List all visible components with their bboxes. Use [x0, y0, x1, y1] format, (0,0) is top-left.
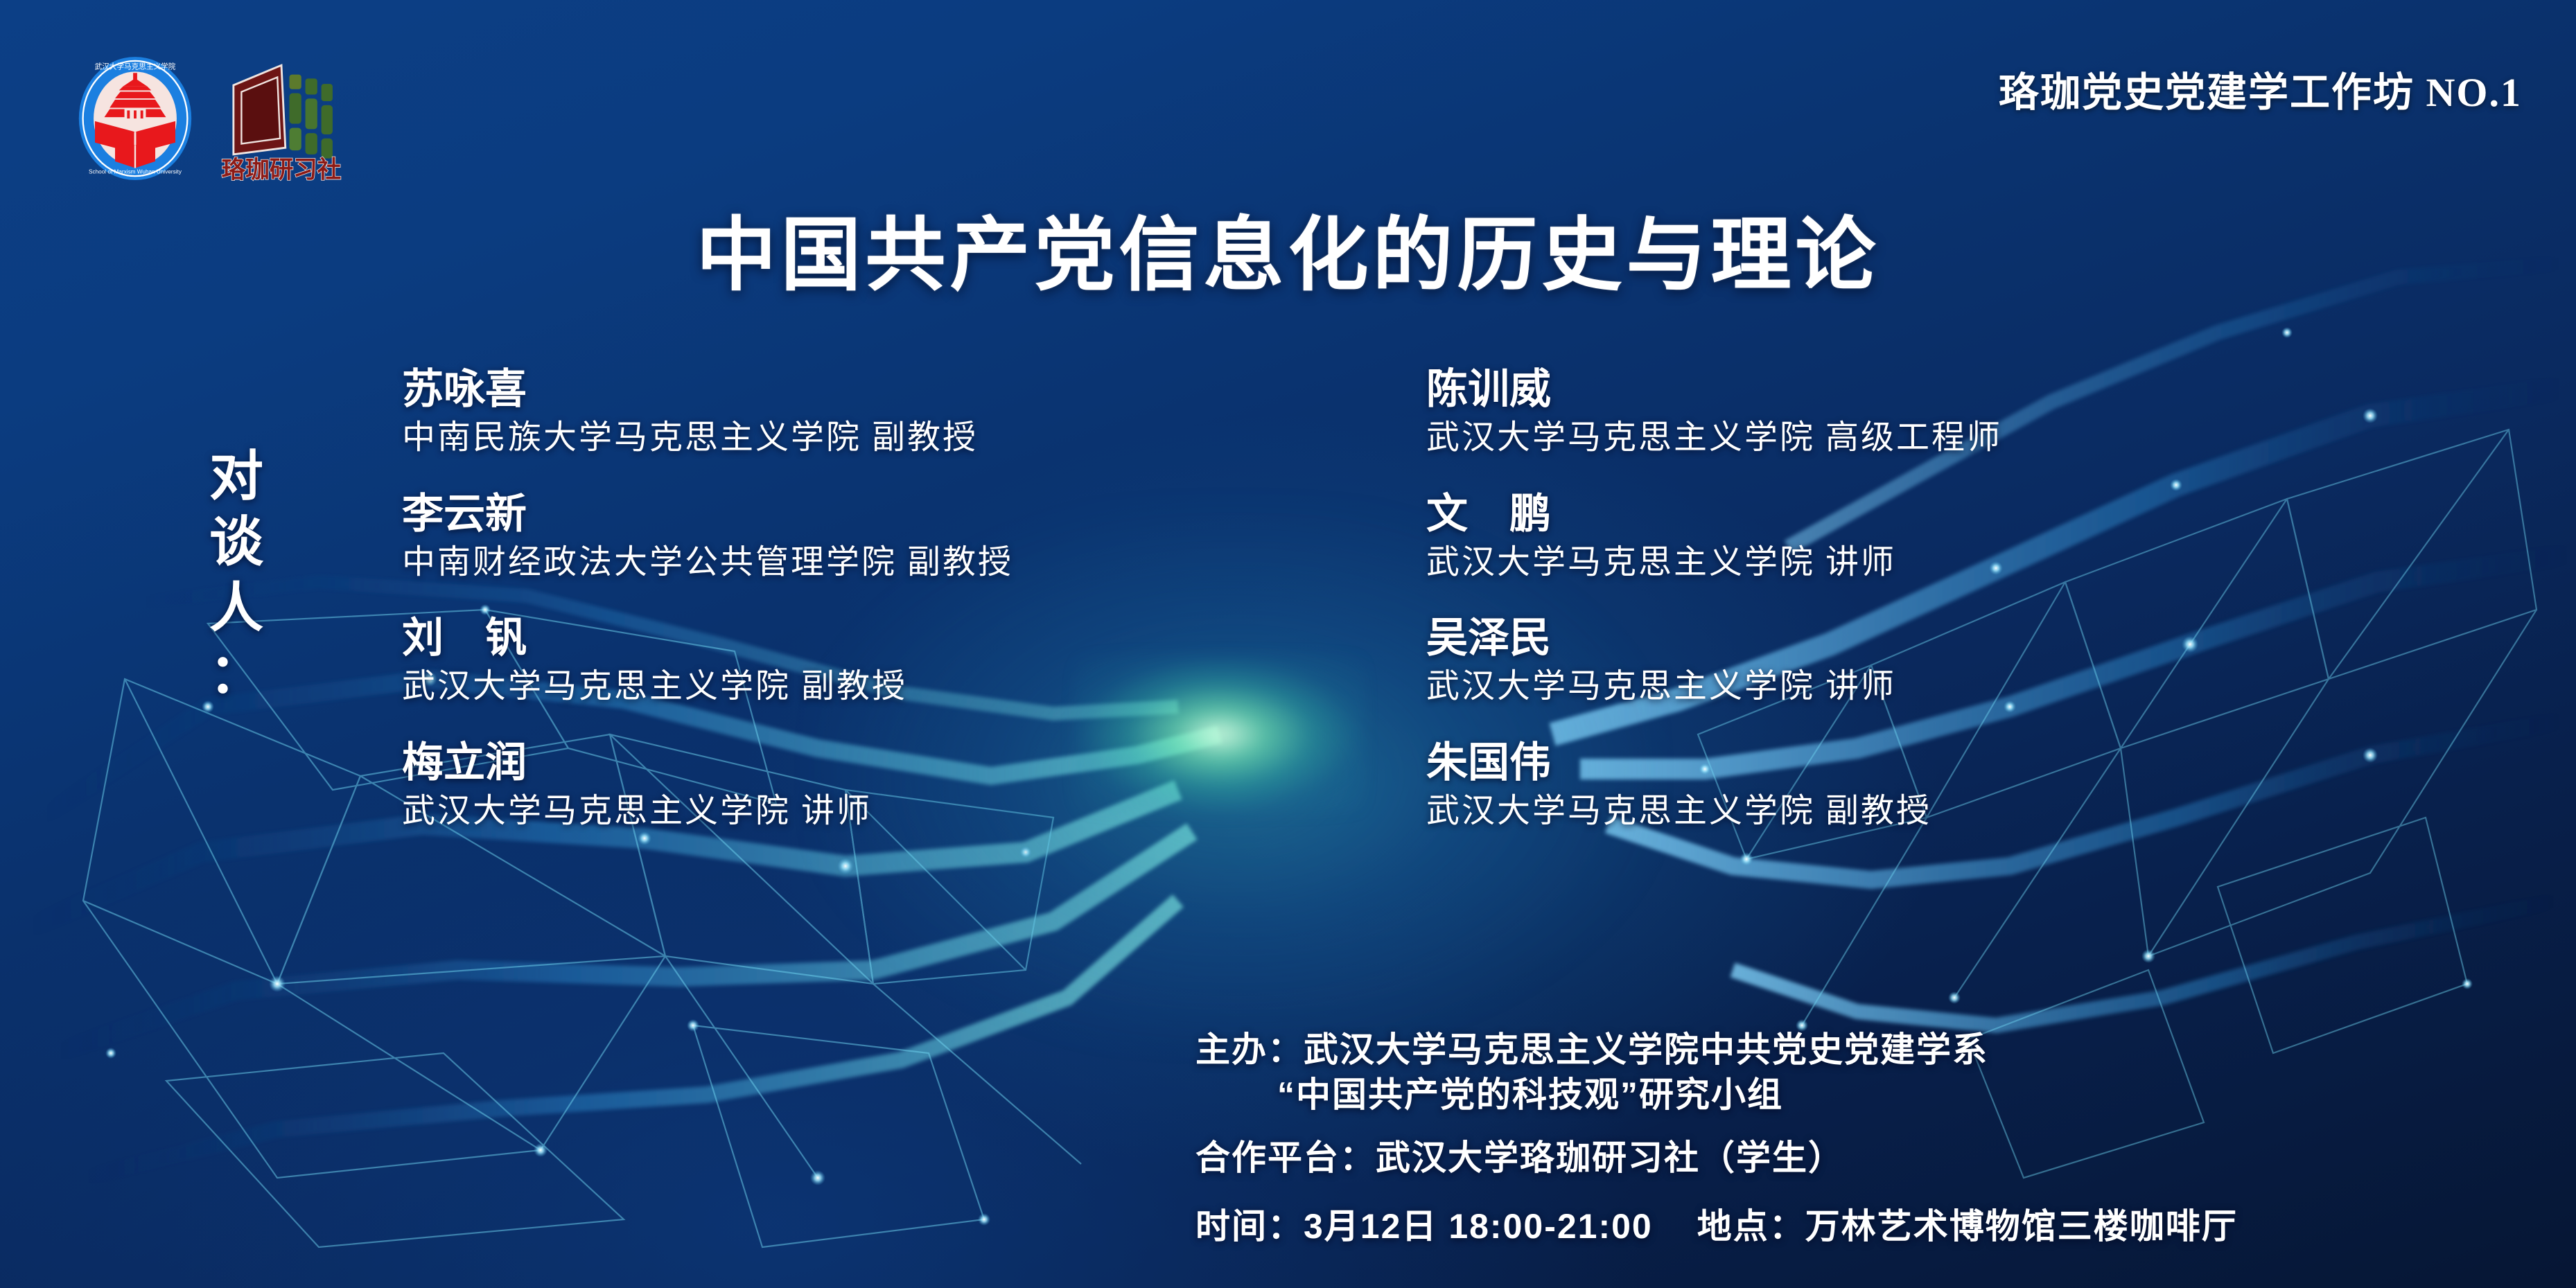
svg-text:珞珈研习社: 珞珈研习社 [222, 157, 342, 183]
time-venue-line: 时间：3月12日 18:00-21:00地点：万林艺术博物馆三楼咖啡厅 [1195, 1204, 2548, 1249]
speaker-name: 李云新 [402, 491, 1254, 537]
speaker-name: 梅立润 [402, 739, 1254, 786]
whu-school-of-marxism-logo: School of Marxism Wuhan University 武汉大学马… [75, 54, 195, 183]
speaker-entry: 梅立润 武汉大学马克思主义学院 讲师 [402, 739, 1254, 833]
speaker-entry: 文 鹏 武汉大学马克思主义学院 讲师 [1426, 491, 2244, 585]
partner-line: 合作平台：武汉大学珞珈研习社（学生） [1195, 1136, 2548, 1181]
speaker-affiliation: 武汉大学马克思主义学院 副教授 [402, 665, 1254, 708]
speaker-list: 苏咏喜 中南民族大学马克思主义学院 副教授 李云新 中南财经政法大学公共管理学院… [402, 366, 2285, 833]
discussants-label-char: ： [198, 641, 274, 707]
speaker-entry: 陈训威 武汉大学马克思主义学院 高级工程师 [1426, 366, 2244, 460]
speaker-affiliation: 武汉大学马克思主义学院 讲师 [402, 790, 1254, 833]
logo-row: School of Marxism Wuhan University 武汉大学马… [75, 54, 348, 183]
speaker-name: 陈训威 [1426, 366, 2244, 412]
event-venue: 地点：万林艺术博物馆三楼咖啡厅 [1697, 1207, 2238, 1246]
speaker-entry: 朱国伟 武汉大学马克思主义学院 副教授 [1426, 739, 2244, 833]
speaker-affiliation: 中南财经政法大学公共管理学院 副教授 [402, 541, 1254, 584]
discussants-label-char: 谈 [198, 509, 274, 575]
speaker-name: 苏咏喜 [402, 366, 1254, 412]
organizer-line: 主办：武汉大学马克思主义学院中共党史党建学系 [1195, 1027, 2548, 1073]
speaker-name: 吴泽民 [1426, 615, 2244, 661]
svg-text:School of Marxism Wuhan Unive: School of Marxism Wuhan University [89, 168, 182, 175]
speaker-affiliation: 武汉大学马克思主义学院 副教授 [1426, 790, 2244, 833]
speaker-entry: 李云新 中南财经政法大学公共管理学院 副教授 [402, 491, 1254, 585]
discussants-label-char: 人 [198, 575, 274, 641]
speaker-name: 朱国伟 [1426, 739, 2244, 786]
event-poster: School of Marxism Wuhan University 武汉大学马… [0, 0, 2576, 1288]
speaker-affiliation: 武汉大学马克思主义学院 讲师 [1426, 665, 2244, 708]
speaker-affiliation: 武汉大学马克思主义学院 讲师 [1426, 541, 2244, 584]
speaker-entry: 苏咏喜 中南民族大学马克思主义学院 副教授 [402, 366, 1254, 460]
workshop-edition-label: 珞珈党史党建学工作坊 NO.1 [1999, 60, 2522, 118]
discussants-label: 对 谈 人 ： [198, 443, 274, 707]
speaker-entry: 刘 钒 武汉大学马克思主义学院 副教授 [402, 615, 1254, 709]
speaker-name: 刘 钒 [402, 615, 1254, 661]
footer-info: 主办：武汉大学马克思主义学院中共党史党建学系 “中国共产党的科技观”研究小组 合… [1195, 1027, 2548, 1249]
speaker-column-left: 苏咏喜 中南民族大学马克思主义学院 副教授 李云新 中南财经政法大学公共管理学院… [402, 366, 1254, 833]
speaker-affiliation: 武汉大学马克思主义学院 高级工程师 [1426, 416, 2244, 459]
speaker-column-right: 陈训威 武汉大学马克思主义学院 高级工程师 文 鹏 武汉大学马克思主义学院 讲师… [1426, 366, 2244, 833]
discussants-label-char: 对 [198, 443, 274, 509]
speaker-affiliation: 中南民族大学马克思主义学院 副教授 [402, 416, 1254, 459]
svg-text:武汉大学马克思主义学院: 武汉大学马克思主义学院 [95, 62, 176, 71]
luojia-study-society-logo: 珞珈研习社 [215, 54, 348, 183]
speaker-name: 文 鹏 [1426, 491, 2244, 537]
speaker-entry: 吴泽民 武汉大学马克思主义学院 讲师 [1426, 615, 2244, 709]
event-time: 时间：3月12日 18:00-21:00 [1195, 1207, 1653, 1246]
page-title: 中国共产党信息化的历史与理论 [0, 190, 2576, 306]
research-group-line: “中国共产党的科技观”研究小组 [1195, 1073, 2548, 1118]
